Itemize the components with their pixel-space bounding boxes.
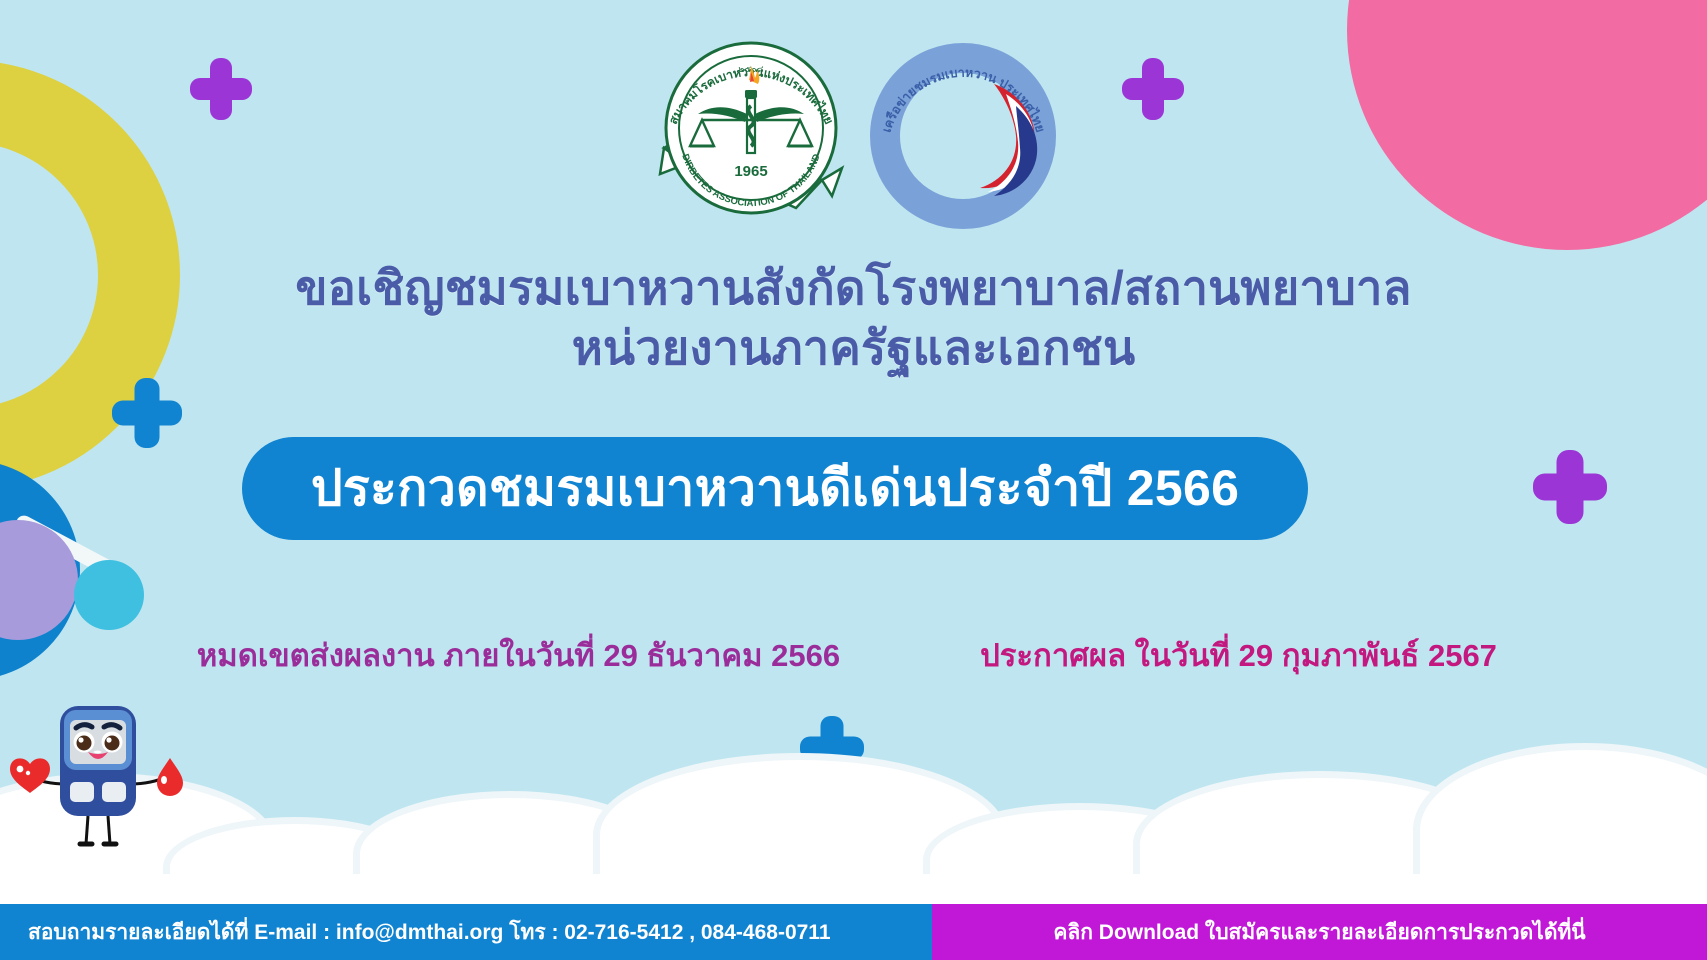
heart-icon [10,758,50,793]
logo-row: สมาคมโรคเบาหวานแห่งประเทศไทย DIRBETES AS… [0,28,1707,238]
blood-drop-icon [157,758,183,796]
diabetes-club-network-thailand-logo: เครือข่ายชมรมเบาหวาน ประเทศไทย [866,36,1061,231]
headline-line-1: ขอเชิญชมรมเบาหวานสังกัดโรงพยาบาล/สถานพยา… [295,261,1411,314]
contact-info-text: สอบถามรายละเอียดได้ที่ E-mail : info@dmt… [28,916,831,949]
contact-info-bar: สอบถามรายละเอียดได้ที่ E-mail : info@dmt… [0,904,932,960]
logo-founding-year: 1965 [734,163,767,180]
poster-headline: ขอเชิญชมรมเบาหวานสังกัดโรงพยาบาล/สถานพยา… [0,258,1707,378]
glucose-meter-mascot [8,672,188,852]
contest-title-banner: ประกวดชมรมเบาหวานดีเด่นประจำปี 2566 [242,437,1308,540]
headline-line-2: หน่วยงานภาครัฐและเอกชน [0,318,1707,378]
contest-title-text: ประกวดชมรมเบาหวานดีเด่นประจำปี 2566 [311,449,1239,528]
submission-deadline: หมดเขตส่งผลงาน ภายในวันที่ 29 ธันวาคม 25… [169,630,869,680]
teal-circle [74,560,144,630]
footer-bar: สอบถามรายละเอียดได้ที่ E-mail : info@dmt… [0,904,1707,960]
cloud-band [0,650,1707,910]
date-row: หมดเขตส่งผลงาน ภายในวันที่ 29 ธันวาคม 25… [0,630,1707,680]
poster-canvas: สมาคมโรคเบาหวานแห่งประเทศไทย DIRBETES AS… [0,0,1707,960]
result-announcement: ประกาศผล ในวันที่ 29 กุมภาพันธ์ 2567 [939,630,1539,680]
download-link-text: คลิก Download ใบสมัครและรายละเอียดการประ… [1053,916,1585,949]
cross-purple-mid-right [1533,450,1607,524]
download-link-button[interactable]: คลิก Download ใบสมัครและรายละเอียดการประ… [932,904,1707,960]
cross-blue-mid-left [112,378,182,448]
diabetes-association-of-thailand-logo: สมาคมโรคเบาหวานแห่งประเทศไทย DIRBETES AS… [646,28,856,238]
